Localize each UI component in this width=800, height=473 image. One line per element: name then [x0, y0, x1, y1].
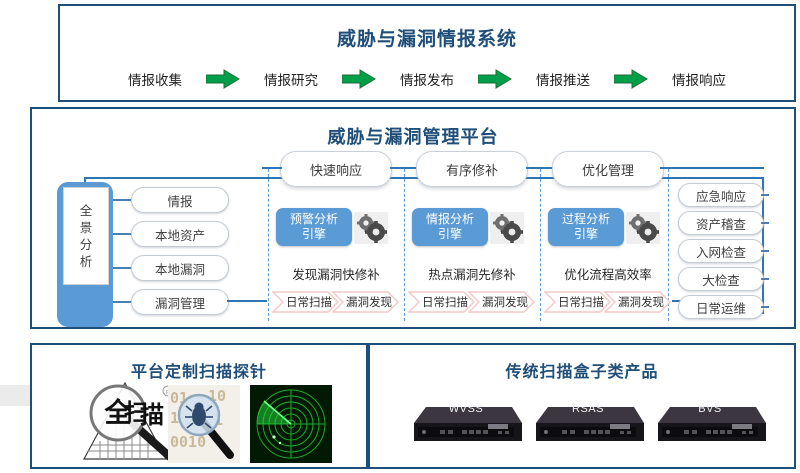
gears-icon-3: [626, 212, 660, 244]
right-item-daily-ops-label: 日常运维: [696, 298, 746, 317]
svg-text:扫: 扫: [124, 399, 148, 427]
capsule-connector-1: [390, 167, 416, 169]
column-3-step-scan-label: 日常扫描: [552, 294, 604, 310]
engine-early-warning[interactable]: 预警分析 引擎: [276, 208, 352, 246]
left-item-local-vulns-label: 本地漏洞: [155, 259, 205, 278]
gears-icon-2: [490, 212, 524, 244]
engine-process-analysis[interactable]: 过程分析 引擎: [548, 208, 624, 246]
left-item-intelligence-label: 情报: [167, 191, 192, 210]
right-item-major-inspection[interactable]: 大检查: [678, 267, 764, 291]
intelligence-system-panel: 威胁与漏洞情报系统 情报收集 情报研究 情报发布 情报推送 情报响应: [58, 4, 796, 102]
traditional-scan-box-panel: 传统扫描盒子类产品 WVSS RSAS: [368, 343, 796, 469]
radar-image: [250, 385, 332, 463]
column-2-step-discover[interactable]: 漏洞发现: [468, 291, 536, 313]
connector-right-4: [761, 278, 769, 280]
left-item-local-vulns[interactable]: 本地漏洞: [131, 255, 229, 281]
column-2-step-scan-label: 日常扫描: [416, 294, 468, 310]
right-item-network-access-check[interactable]: 入网检查: [678, 239, 764, 263]
flow-arrow-1-icon: [201, 66, 245, 92]
left-edge-grey-band: [0, 385, 30, 406]
device-wvss-label: WVSS: [410, 403, 522, 415]
column-3-subtitle-text: 优化流程高效率: [564, 267, 652, 282]
right-item-network-access-check-label: 入网检查: [696, 242, 746, 261]
device-bvs: BVS: [654, 401, 766, 447]
gears-icon-1: [354, 212, 388, 244]
engine-early-warning-line2: 引擎: [290, 227, 338, 242]
platform-diagram: 全景分析 情报 本地资产 本地漏洞 漏洞管理 快速响应: [32, 109, 798, 331]
capability-orderly-patch[interactable]: 有序修补: [416, 151, 528, 187]
device-rsas: RSAS: [532, 401, 644, 447]
flow-arrow-3-icon: [473, 66, 517, 92]
bug-magnifier-image: 0110 11 0010: [168, 385, 240, 463]
intelligence-flow: 情报收集 情报研究 情报发布 情报推送 情报响应: [60, 64, 794, 94]
connector-right-2: [761, 222, 769, 224]
column-2-step-discover-label: 漏洞发现: [476, 294, 528, 310]
panorama-analysis-box[interactable]: 全景分析: [57, 182, 113, 327]
right-item-asset-audit[interactable]: 资产稽查: [678, 211, 764, 235]
left-item-vuln-management[interactable]: 漏洞管理: [131, 289, 229, 315]
column-1-subtitle-text: 发现漏洞快修补: [292, 267, 380, 282]
connector-left-2: [113, 233, 131, 235]
column-3-step-discover[interactable]: 漏洞发现: [604, 291, 672, 313]
right-item-asset-audit-label: 资产稽查: [696, 214, 746, 233]
engine-intelligence-analysis-line1: 情报分析: [426, 212, 474, 227]
flow-step-publish: 情报发布: [381, 69, 473, 89]
connector-right-3: [761, 250, 769, 252]
left-item-local-assets-label: 本地资产: [155, 225, 205, 244]
connector-left-3: [113, 267, 131, 269]
column-1-step-scan[interactable]: 日常扫描: [272, 291, 340, 313]
engine-early-warning-line1: 预警分析: [290, 212, 338, 227]
column-2-subtitle-text: 热点漏洞先修补: [428, 267, 516, 282]
engine-process-analysis-line2: 引擎: [562, 227, 610, 242]
capability-optimized-mgmt-label: 优化管理: [582, 160, 634, 179]
device-wvss: WVSS: [410, 401, 522, 447]
column-3-subtitle: 优化流程高效率: [544, 264, 672, 283]
engine-process-analysis-line1: 过程分析: [562, 212, 610, 227]
connector-left-4: [113, 301, 131, 303]
engine-early-warning-text: 预警分析 引擎: [290, 212, 338, 242]
device-rsas-label: RSAS: [532, 403, 644, 415]
column-divider-1: [268, 169, 269, 321]
right-item-emergency-response[interactable]: 应急响应: [678, 183, 764, 207]
capability-fast-response-label: 快速响应: [310, 160, 362, 179]
left-item-local-assets[interactable]: 本地资产: [131, 221, 229, 247]
engine-intelligence-analysis[interactable]: 情报分析 引擎: [412, 208, 488, 246]
column-divider-2: [404, 169, 405, 321]
engine-process-analysis-text: 过程分析 引擎: [562, 212, 610, 242]
connector-right-5: [761, 306, 769, 308]
right-item-emergency-response-label: 应急响应: [696, 186, 746, 205]
right-item-major-inspection-label: 大检查: [702, 270, 740, 289]
right-item-daily-ops[interactable]: 日常运维: [678, 295, 764, 319]
flow-step-respond: 情报响应: [653, 69, 745, 89]
capsule-connector-3: [660, 167, 764, 169]
capability-orderly-patch-label: 有序修补: [446, 160, 498, 179]
connector-vuln-to-chain: [227, 300, 267, 302]
flow-step-collect: 情报收集: [109, 69, 201, 89]
connector-left-1: [113, 199, 131, 201]
management-platform-panel: 威胁与漏洞管理平台 全景分析 情报 本地资产 本地漏洞 漏洞管理: [30, 107, 796, 329]
column-1-step-discover[interactable]: 漏洞发现: [332, 291, 400, 313]
engine-intelligence-analysis-line2: 引擎: [426, 227, 474, 242]
column-2-step-scan[interactable]: 日常扫描: [408, 291, 476, 313]
device-bvs-label: BVS: [654, 403, 766, 415]
engine-intelligence-analysis-text: 情报分析 引擎: [426, 212, 474, 242]
column-2-subtitle: 热点漏洞先修补: [408, 264, 536, 283]
capsule-connector-2: [526, 167, 552, 169]
capsule-connector-0: [262, 167, 282, 169]
left-item-intelligence[interactable]: 情报: [131, 187, 229, 213]
capability-fast-response[interactable]: 快速响应: [280, 151, 392, 187]
column-3-step-scan[interactable]: 日常扫描: [544, 291, 612, 313]
connector-right-1: [761, 194, 769, 196]
panorama-analysis-inner: 全景分析: [63, 187, 109, 285]
flow-arrow-2-icon: [337, 66, 381, 92]
capability-optimized-mgmt[interactable]: 优化管理: [552, 151, 664, 187]
flow-step-push: 情报推送: [517, 69, 609, 89]
traditional-scan-box-title: 传统扫描盒子类产品: [370, 358, 794, 382]
flow-arrow-4-icon: [609, 66, 653, 92]
column-divider-3: [540, 169, 541, 321]
svg-text:1: 1: [170, 409, 179, 427]
scan-logo-image: 全 描 扫 R: [70, 377, 180, 465]
column-3-step-discover-label: 漏洞发现: [612, 294, 664, 310]
panorama-analysis-label: 全景分析: [74, 202, 98, 270]
column-1-subtitle: 发现漏洞快修补: [272, 264, 400, 283]
scan-probe-panel: 平台定制扫描探针 全 描 扫 R 0110 11: [30, 343, 368, 469]
flow-step-research: 情报研究: [245, 69, 337, 89]
intelligence-system-title: 威胁与漏洞情报系统: [60, 24, 794, 51]
left-item-vuln-management-label: 漏洞管理: [155, 293, 205, 312]
column-1-step-discover-label: 漏洞发现: [340, 294, 392, 310]
column-1-step-scan-label: 日常扫描: [280, 294, 332, 310]
